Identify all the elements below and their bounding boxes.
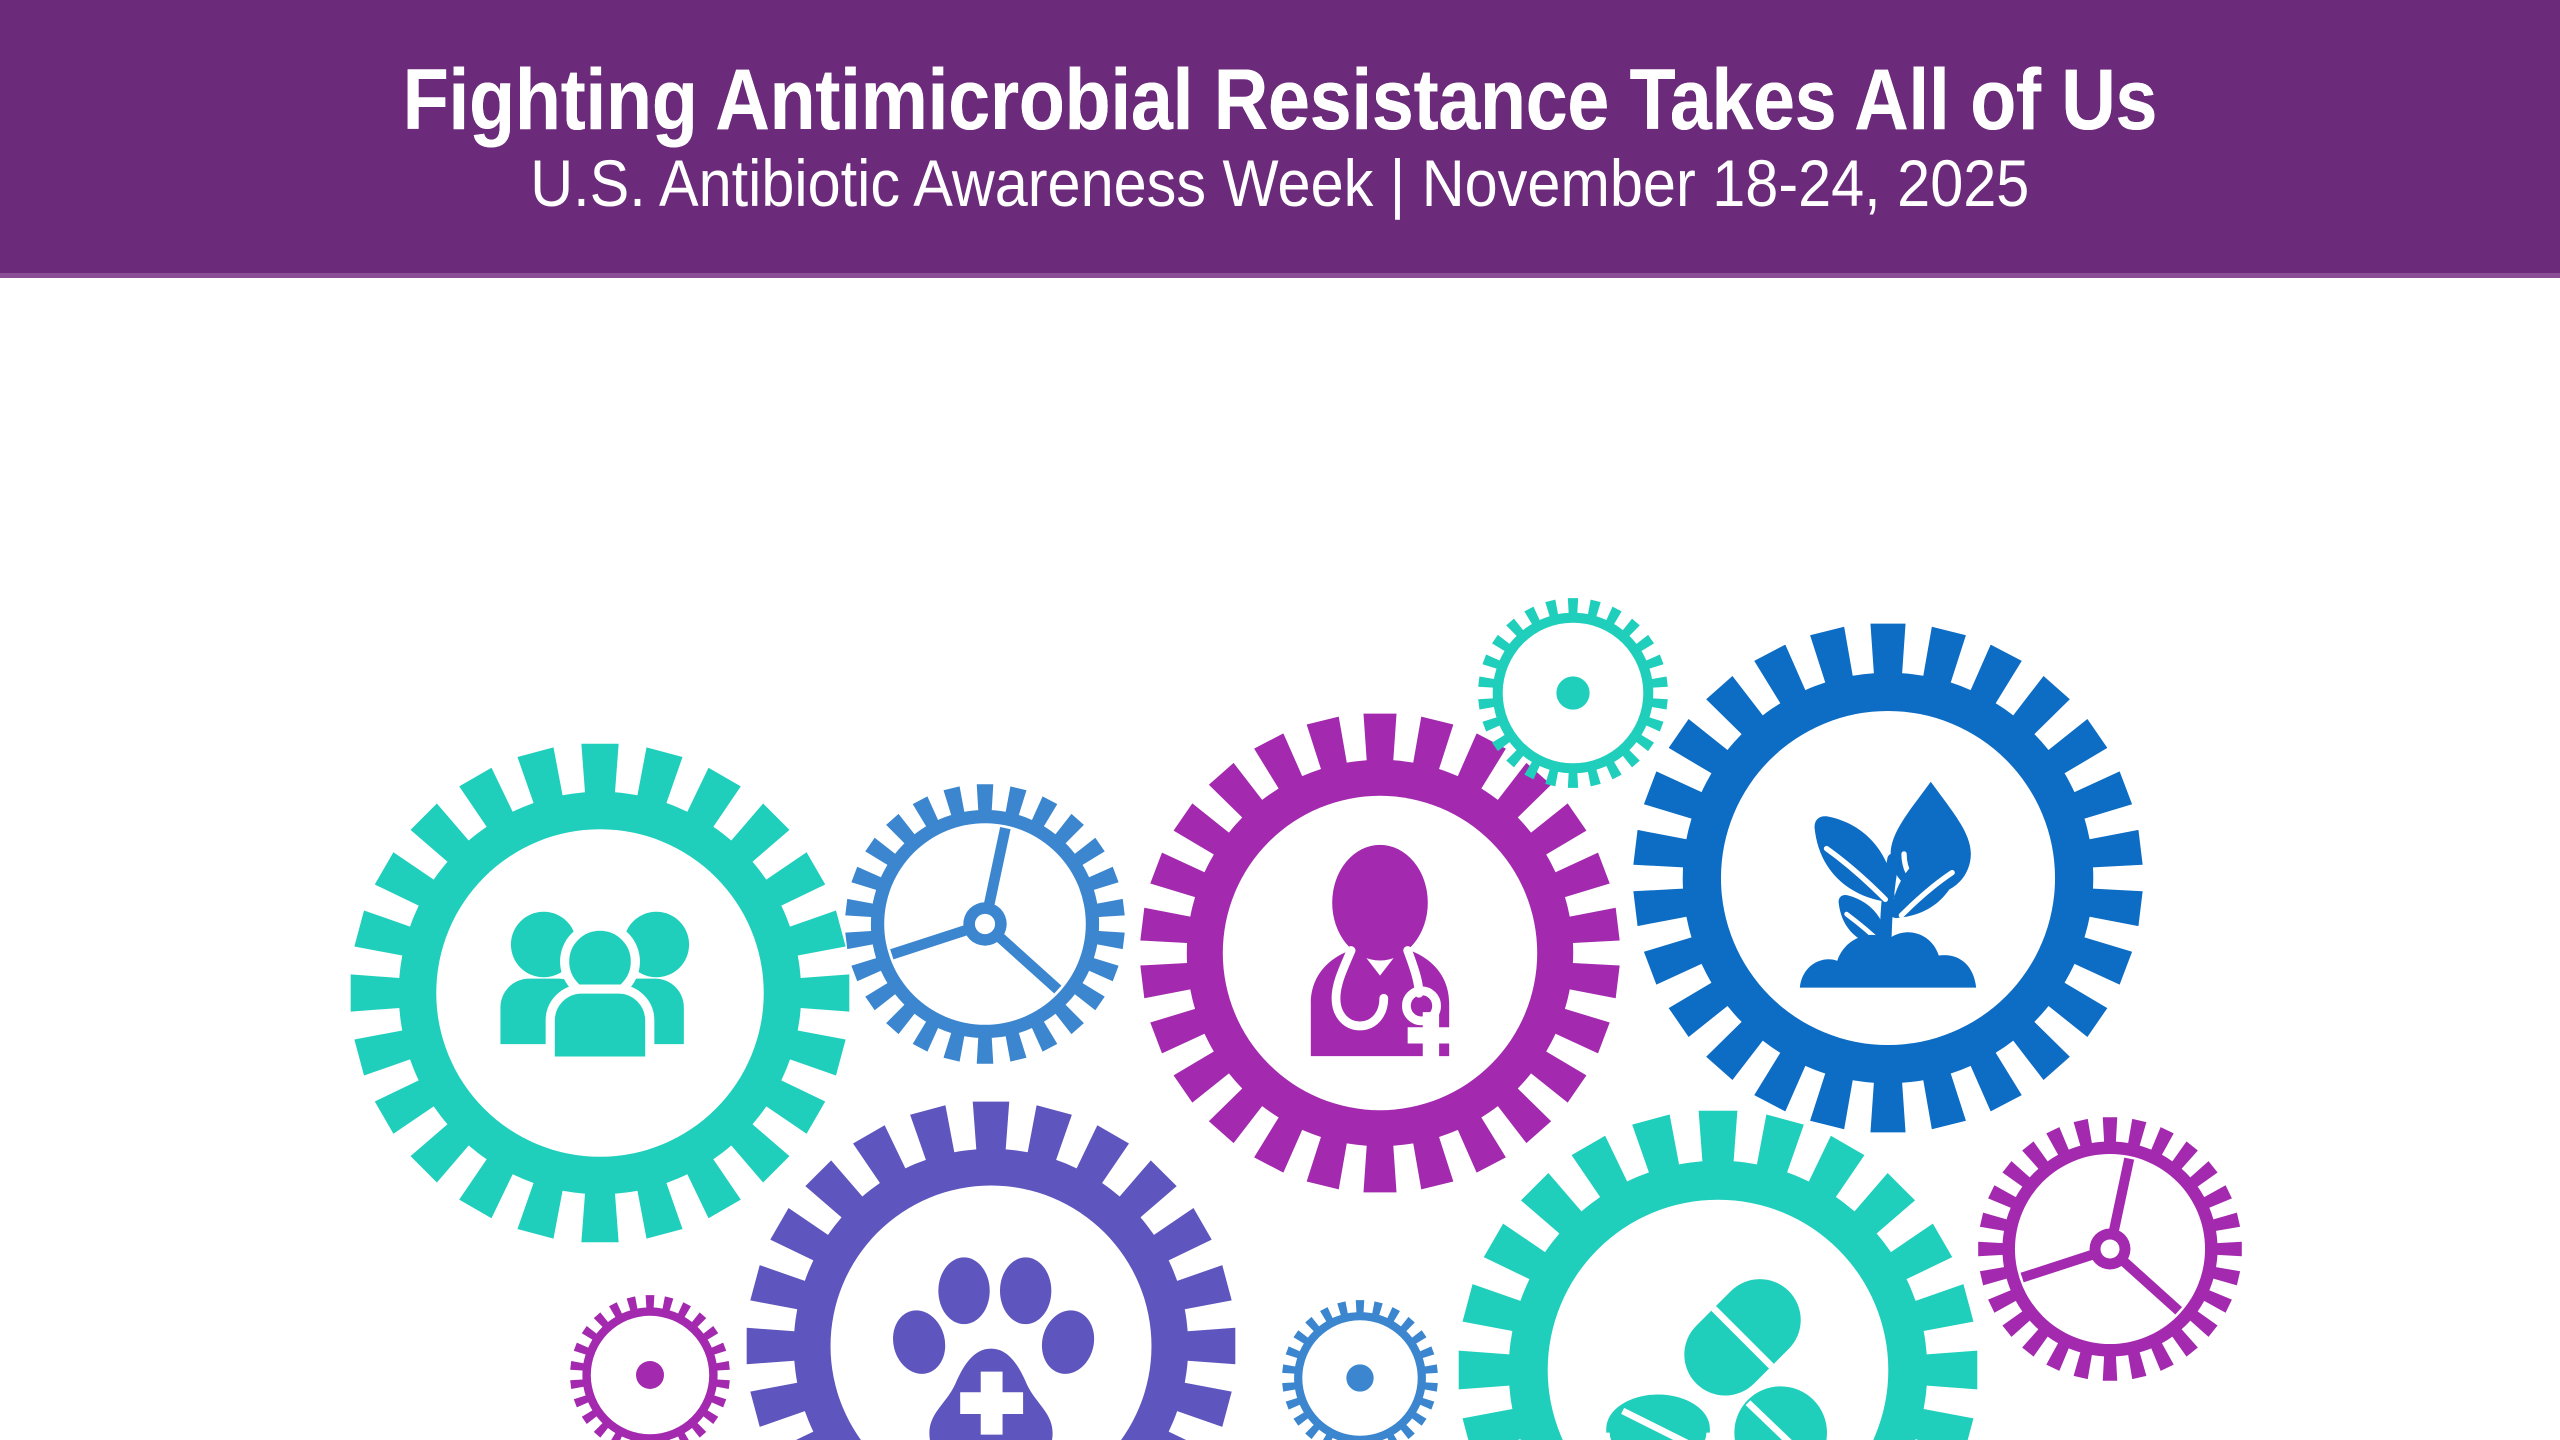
gear-dot-purple-left <box>570 1295 730 1440</box>
page-title: Fighting Antimicrobial Resistance Takes … <box>403 57 2157 145</box>
gear-plant-water <box>1633 624 2142 1133</box>
gear-spoke-blue-upper <box>845 784 1124 1064</box>
gear-dot-teal-top <box>1478 598 1668 788</box>
header-banner: Fighting Antimicrobial Resistance Takes … <box>0 0 2560 273</box>
gear-dot-blue-mid <box>1282 1300 1438 1440</box>
gear-center-dot <box>636 1361 664 1389</box>
people-group-icon <box>500 912 689 1061</box>
page-subtitle: U.S. Antibiotic Awareness Week | Novembe… <box>530 150 2029 216</box>
gears-illustration <box>0 278 2560 1440</box>
gear-paw <box>747 1102 1236 1440</box>
gear-center-dot <box>1346 1364 1373 1391</box>
gear-doctor <box>1140 714 1619 1193</box>
gear-center-dot <box>1556 676 1589 709</box>
gear-hub-hole <box>975 914 995 934</box>
gears-svg-canvas <box>0 278 2560 1440</box>
gear-people <box>351 744 850 1243</box>
gear-layer <box>351 598 2242 1440</box>
gear-pills <box>1459 1111 1978 1440</box>
gear-hub-hole <box>2100 1239 2119 1258</box>
gear-spoke-purple-right <box>1978 1117 2242 1381</box>
